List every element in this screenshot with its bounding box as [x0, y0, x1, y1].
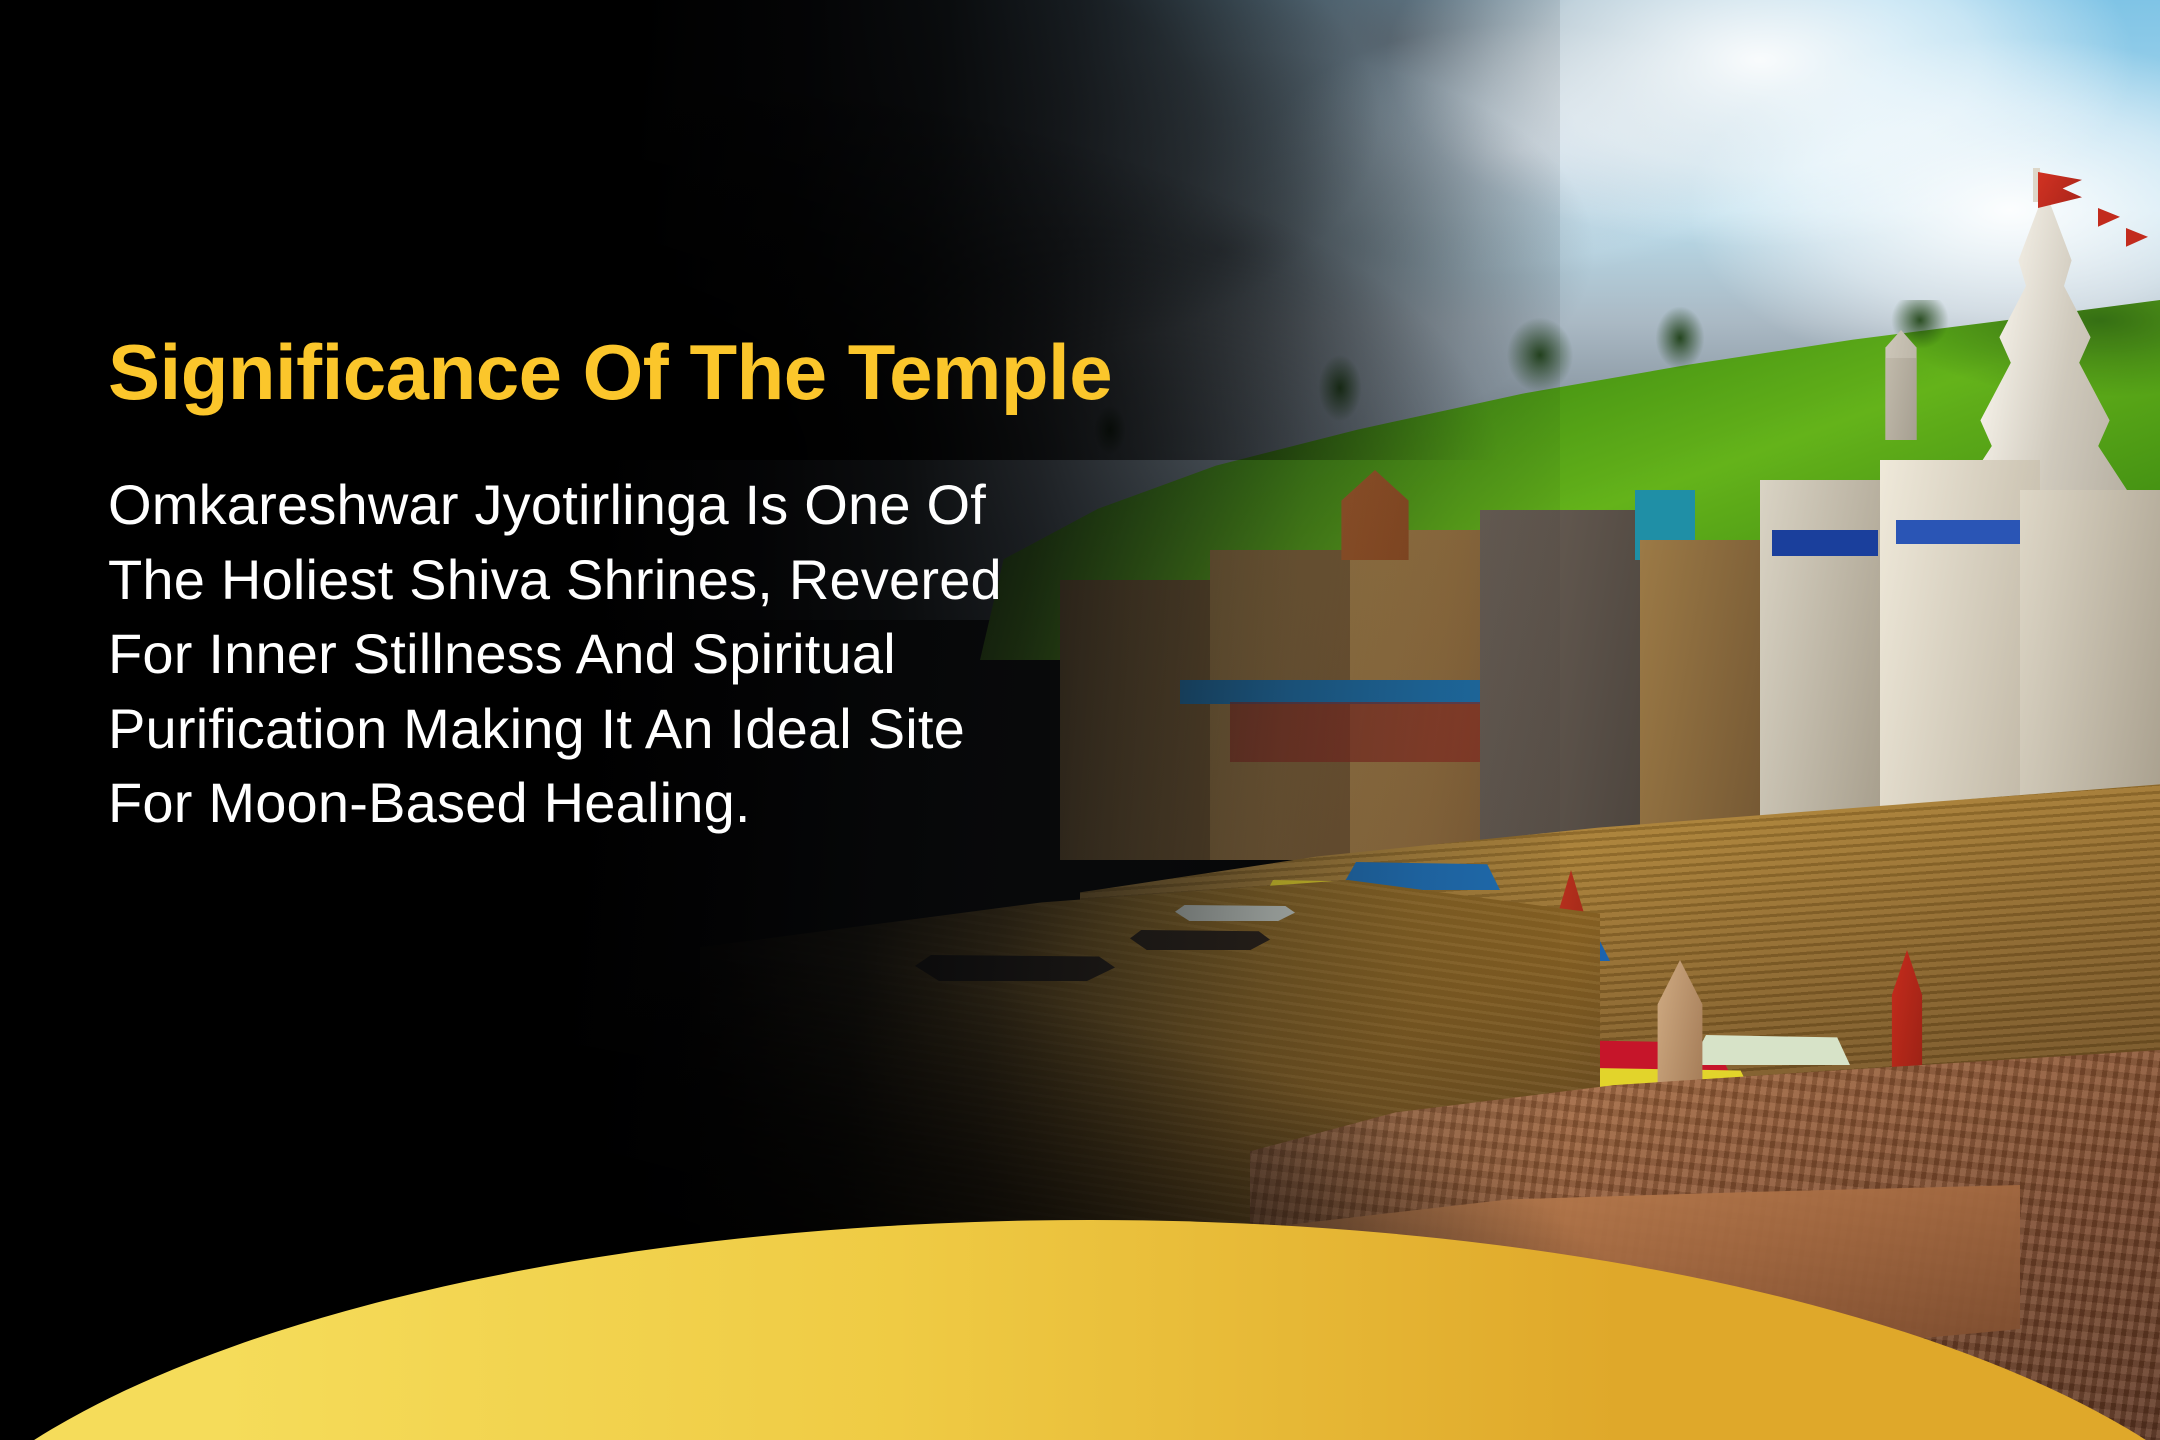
body-line: For Inner Stillness And Spiritual — [108, 617, 1408, 691]
body-line: Purification Making It An Ideal Site — [108, 692, 1408, 766]
shop-signboard — [1772, 530, 1878, 556]
band-shape — [0, 1220, 2160, 1440]
temple-side-flag-icon — [2098, 208, 2120, 234]
bottom-accent-band — [0, 1210, 2160, 1440]
slide-canvas: Significance Of The Temple Omkareshwar J… — [0, 0, 2160, 1440]
temple-side-flag-icon — [2126, 228, 2148, 254]
body-line: Omkareshwar Jyotirlinga Is One Of — [108, 468, 1408, 542]
page-title: Significance Of The Temple — [108, 330, 1408, 414]
body-line: For Moon-Based Healing. — [108, 766, 1408, 840]
text-content-block: Significance Of The Temple Omkareshwar J… — [108, 330, 1408, 841]
bank-signboard — [1896, 520, 2024, 544]
temple-flag-icon — [2038, 172, 2082, 208]
body-paragraph: Omkareshwar Jyotirlinga Is One Of The Ho… — [108, 468, 1408, 840]
body-line: The Holiest Shiva Shrines, Revered — [108, 543, 1408, 617]
